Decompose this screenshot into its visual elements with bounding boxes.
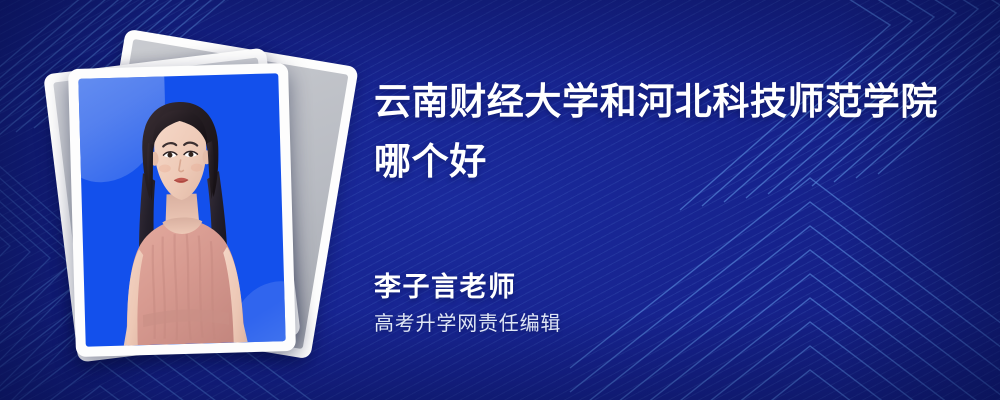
author-photo (78, 73, 285, 346)
author-portrait-illustration (78, 73, 285, 346)
text-column: 云南财经大学和河北科技师范学院哪个好 李子言老师 高考升学网责任编辑 (374, 0, 974, 400)
author-name: 李子言老师 (374, 268, 561, 306)
photo-card-stack (58, 42, 358, 362)
author-byline: 李子言老师 高考升学网责任编辑 (374, 268, 561, 340)
article-title: 云南财经大学和河北科技师范学院哪个好 (374, 72, 974, 192)
author-photo-card (68, 63, 296, 357)
article-cover-banner: 云南财经大学和河北科技师范学院哪个好 李子言老师 高考升学网责任编辑 (0, 0, 1000, 400)
author-role: 高考升学网责任编辑 (374, 308, 561, 340)
